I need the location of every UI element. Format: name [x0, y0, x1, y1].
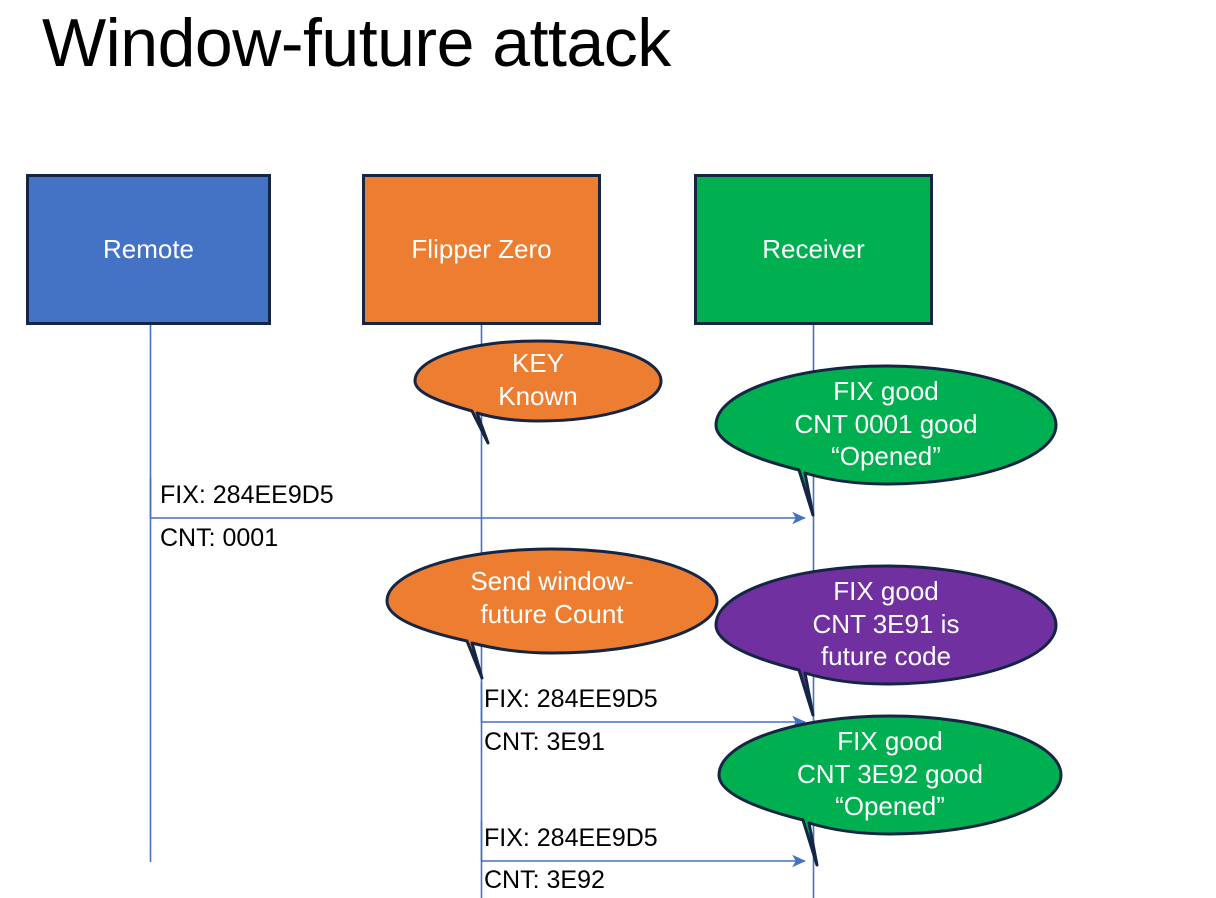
message-1-fix-label: FIX: 284EE9D5	[160, 481, 334, 510]
callout-fix-good-3e92-shape	[716, 713, 1064, 868]
callout-fix-good-3e91-future-shape	[713, 563, 1059, 718]
actor-box-remote[interactable]: Remote	[26, 174, 271, 325]
message-3-fix-label: FIX: 284EE9D5	[484, 824, 658, 853]
message-3-cnt-label: CNT: 3E92	[484, 866, 605, 895]
callout-key-known-shape	[412, 338, 664, 448]
callout-send-window-future-count-shape	[384, 546, 720, 681]
callout-send-window-future-count[interactable]: Send window- future Count	[384, 546, 720, 681]
actor-label-flipper: Flipper Zero	[411, 234, 551, 265]
callout-fix-good-3e91-future[interactable]: FIX good CNT 3E91 is future code	[713, 563, 1059, 718]
message-1-cnt-label: CNT: 0001	[160, 524, 278, 553]
callout-fix-good-0001[interactable]: FIX good CNT 0001 good “Opened”	[713, 363, 1059, 518]
callout-fix-good-0001-shape	[713, 363, 1059, 518]
callout-fix-good-3e92[interactable]: FIX good CNT 3E92 good “Opened”	[716, 713, 1064, 868]
actor-label-remote: Remote	[103, 234, 194, 265]
actor-box-receiver[interactable]: Receiver	[694, 174, 933, 325]
message-2-fix-label: FIX: 284EE9D5	[484, 685, 658, 714]
callout-key-known[interactable]: KEY Known	[412, 338, 664, 448]
actor-box-flipper[interactable]: Flipper Zero	[362, 174, 601, 325]
slide-canvas: Window-future attack Remote Flipper Zero…	[0, 0, 1216, 898]
message-2-cnt-label: CNT: 3E91	[484, 728, 605, 757]
actor-label-receiver: Receiver	[762, 234, 865, 265]
